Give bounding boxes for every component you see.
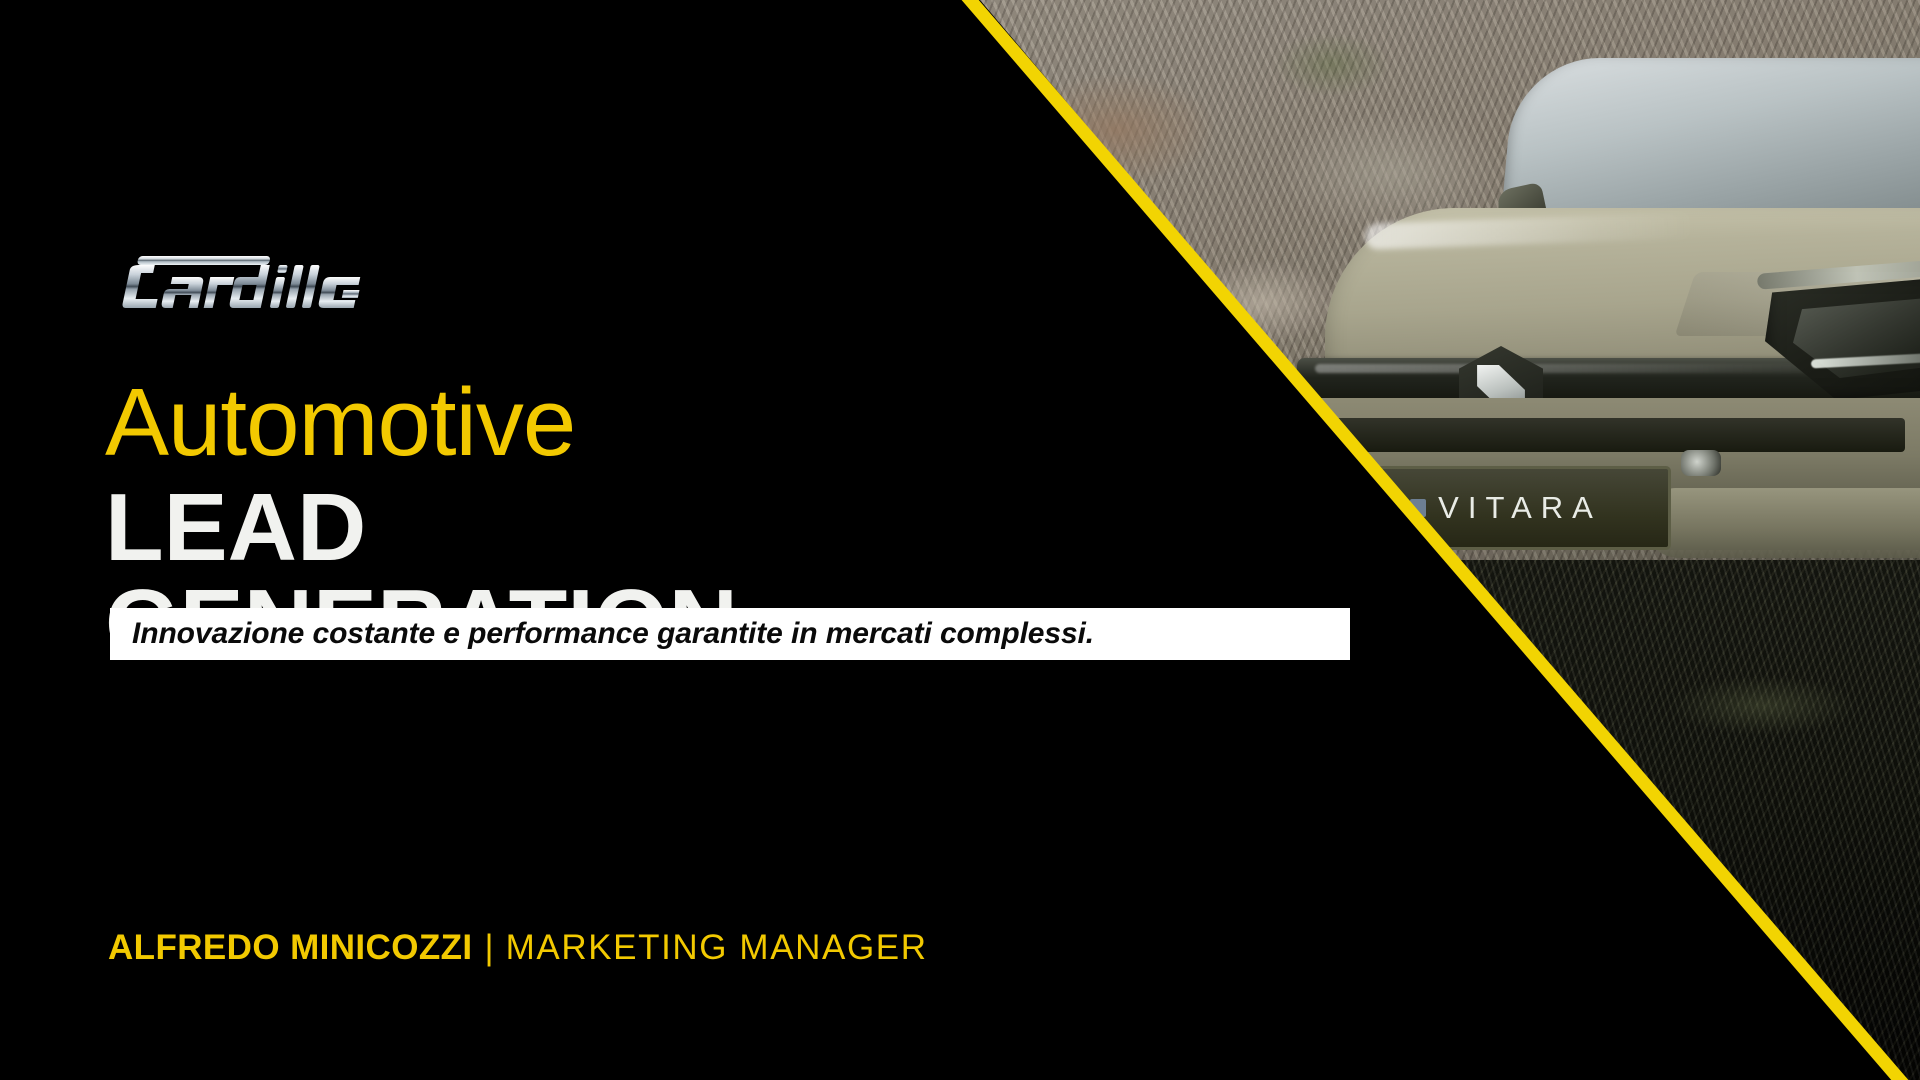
- badge-chip-icon: [1410, 499, 1426, 517]
- subtitle-text: Innovazione costante e performance garan…: [132, 617, 1094, 651]
- cardillo-logo[interactable]: [112, 250, 452, 322]
- subtitle-banner: Innovazione costante e performance garan…: [110, 608, 1350, 660]
- suzuki-vitara-vehicle: VITARA: [1245, 58, 1920, 698]
- cardillo-logo-mark: [112, 250, 452, 322]
- credit-separator: |: [473, 928, 506, 968]
- grille-bar-gloss: [1315, 364, 1875, 373]
- skid-plate: [1640, 488, 1920, 558]
- vitara-badge-text: VITARA: [1438, 490, 1602, 526]
- vitara-badge-plate: VITARA: [1341, 466, 1671, 550]
- presenter-credit: ALFREDO MINICOZZI | MARKETING MANAGER: [108, 928, 928, 968]
- presentation-slide: VITARA: [0, 0, 1920, 1080]
- headline-line-1: Automotive: [105, 375, 575, 471]
- bumper-vent: [1305, 418, 1905, 452]
- presenter-role: MARKETING MANAGER: [506, 928, 928, 968]
- presenter-name: ALFREDO MINICOZZI: [108, 928, 473, 968]
- fog-lamp: [1681, 450, 1721, 476]
- slide-content: Automotive LEAD GENERATION Innovazione c…: [0, 0, 980, 1080]
